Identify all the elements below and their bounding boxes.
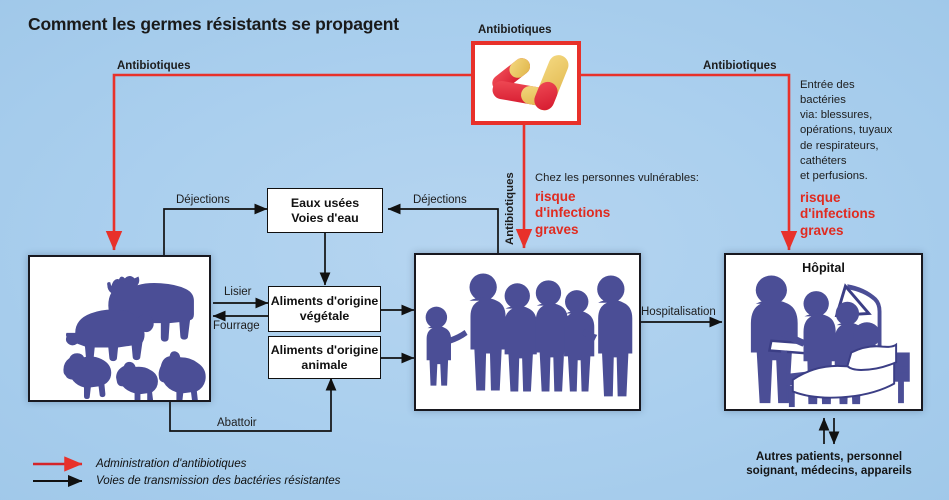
entry-line-4: opérations, tuyaux bbox=[800, 123, 949, 138]
pills-icon bbox=[475, 45, 577, 121]
animal-food-line-2: animale bbox=[271, 358, 379, 373]
hospital-bottom-line-2: soignant, médecins, appareils bbox=[729, 464, 929, 478]
vuln-risk-line-2: d'infections bbox=[535, 205, 715, 221]
plant-food-line-2: végétale bbox=[271, 309, 379, 324]
entry-line-3: via: blessures, bbox=[800, 108, 949, 123]
people-group-box bbox=[414, 253, 641, 411]
entry-line-6: cathéters bbox=[800, 154, 949, 169]
antibiotics-pills-box bbox=[471, 41, 581, 125]
page-title: Comment les germes résistants se propage… bbox=[28, 14, 399, 35]
antibiotics-vertical-label: Antibiotiques bbox=[504, 172, 516, 245]
label-hospitalisation: Hospitalisation bbox=[641, 306, 716, 318]
label-dejections-left: Déjections bbox=[176, 194, 230, 206]
label-abattoir: Abattoir bbox=[217, 417, 257, 429]
box-animal-food: Aliments d'origine animale bbox=[268, 336, 381, 379]
waste-line-2: Voies d'eau bbox=[291, 211, 359, 226]
risk-line-1: risque bbox=[800, 190, 949, 206]
hospital-entry-text: Entrée des bactéries via: blessures, opé… bbox=[800, 78, 949, 184]
cow-pig-chicken-icon bbox=[30, 257, 209, 400]
entry-line-7: et perfusions. bbox=[800, 169, 949, 184]
vuln-risk-line-3: graves bbox=[535, 222, 715, 238]
arrow-dejections-people-to-water bbox=[388, 209, 498, 253]
arrow-dejections-farm-to-water bbox=[164, 209, 267, 255]
hospital-bottom-text: Autres patients, personnel soignant, méd… bbox=[729, 450, 929, 479]
vuln-risk-line-1: risque bbox=[535, 189, 715, 205]
entry-line-5: de respirateurs, bbox=[800, 139, 949, 154]
antibiotics-right-label: Antibiotiques bbox=[703, 60, 776, 72]
legend-item-0-text: Administration d'antibiotiques bbox=[96, 457, 246, 470]
animal-food-line-1: Aliments d'origine bbox=[271, 343, 379, 358]
waste-line-1: Eaux usées bbox=[291, 196, 359, 211]
label-fourrage: Fourrage bbox=[213, 320, 260, 332]
hospital-entry-risk: risque d'infections graves bbox=[800, 190, 949, 239]
hospital-box: Hôpital bbox=[724, 253, 923, 411]
antibiotics-left-label: Antibiotiques bbox=[117, 60, 190, 72]
antibiotics-box-label: Antibiotiques bbox=[478, 24, 551, 36]
box-plant-food: Aliments d'origine végétale bbox=[268, 286, 381, 332]
entry-line-2: bactéries bbox=[800, 93, 949, 108]
plant-food-line-1: Aliments d'origine bbox=[271, 294, 379, 309]
people-silhouettes-icon bbox=[416, 255, 639, 409]
legend-item-1-text: Voies de transmission des bactéries rési… bbox=[96, 474, 340, 487]
entry-line-1: Entrée des bbox=[800, 78, 949, 93]
vulnerable-risk: risque d'infections graves bbox=[535, 189, 715, 238]
infographic-canvas: Comment les germes résistants se propage… bbox=[0, 0, 949, 500]
box-waste-water: Eaux usées Voies d'eau bbox=[267, 188, 383, 233]
hospital-bottom-line-1: Autres patients, personnel bbox=[729, 450, 929, 464]
label-lisier: Lisier bbox=[224, 286, 251, 298]
risk-line-3: graves bbox=[800, 223, 949, 239]
hospital-scene-icon bbox=[726, 255, 921, 409]
risk-line-2: d'infections bbox=[800, 206, 949, 222]
vulnerable-intro: Chez les personnes vulnérables: bbox=[535, 171, 735, 186]
farm-animals-box bbox=[28, 255, 211, 402]
label-dejections-right: Déjections bbox=[413, 194, 467, 206]
